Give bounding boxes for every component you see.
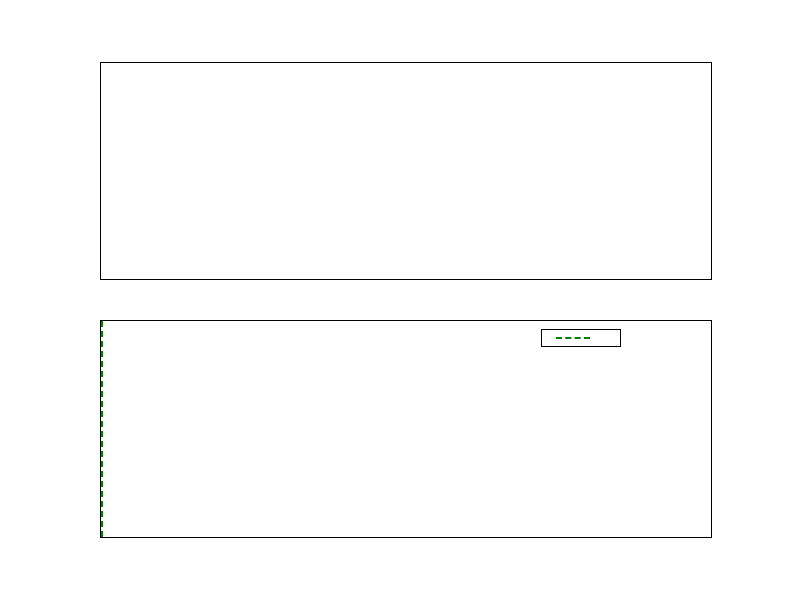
top-panel-plot-area bbox=[101, 63, 711, 279]
legend bbox=[541, 329, 621, 347]
bottom-panel-plot-area bbox=[101, 321, 711, 537]
mag-limit-vline bbox=[101, 321, 103, 537]
bottom-panel-axes bbox=[100, 320, 712, 538]
mag-limit-legend-swatch bbox=[556, 337, 590, 339]
cumulative-curve bbox=[101, 321, 713, 539]
figure bbox=[0, 0, 800, 600]
top-panel-axes bbox=[100, 62, 712, 280]
